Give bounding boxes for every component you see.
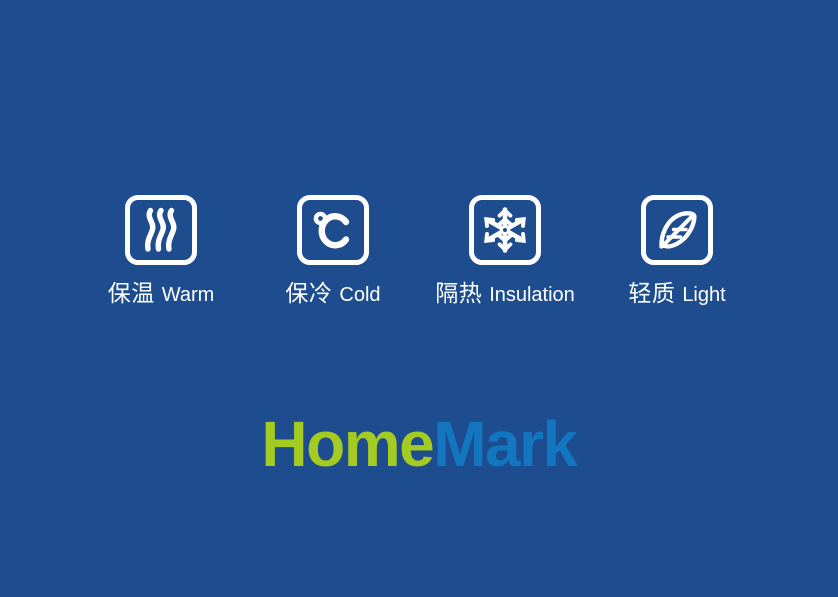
- feather-leaf-icon: [654, 207, 700, 253]
- feature-icon-box-cold: [297, 195, 369, 265]
- feature-icon-box-warm: [125, 195, 197, 265]
- feature-label-en: Insulation: [489, 285, 575, 305]
- feature-item-insulation: 隔热 Insulation: [419, 195, 591, 306]
- feature-list: 保温 Warm 保冷 Cold: [0, 195, 838, 320]
- feature-label-cn: 隔热: [435, 283, 482, 306]
- snowflake-icon: [481, 206, 529, 254]
- brand-name-secondary: Mark: [433, 408, 576, 480]
- feature-label-light: 轻质 Light: [628, 283, 725, 306]
- poster-canvas: 保温 Warm 保冷 Cold: [0, 0, 838, 597]
- feature-label-cn: 轻质: [628, 283, 675, 306]
- feature-item-warm: 保温 Warm: [75, 195, 247, 306]
- feature-label-warm: 保温 Warm: [108, 283, 215, 306]
- feature-icon-box-light: [641, 195, 713, 265]
- brand-logo: HomeMark: [0, 412, 838, 476]
- feature-label-cn: 保温: [108, 283, 155, 306]
- celsius-degree-icon: [311, 208, 355, 252]
- feature-label-cold: 保冷 Cold: [285, 283, 380, 306]
- feature-item-cold: 保冷 Cold: [247, 195, 419, 306]
- brand-name-primary: Home: [261, 408, 433, 480]
- feature-label-insulation: 隔热 Insulation: [435, 283, 575, 306]
- feature-label-en: Cold: [339, 285, 380, 305]
- feature-item-light: 轻质 Light: [591, 195, 763, 306]
- feature-label-en: Warm: [162, 285, 215, 305]
- feature-label-cn: 保冷: [285, 283, 332, 306]
- feature-icon-box-insulation: [469, 195, 541, 265]
- heat-waves-icon: [141, 207, 181, 253]
- feature-label-en: Light: [682, 285, 725, 305]
